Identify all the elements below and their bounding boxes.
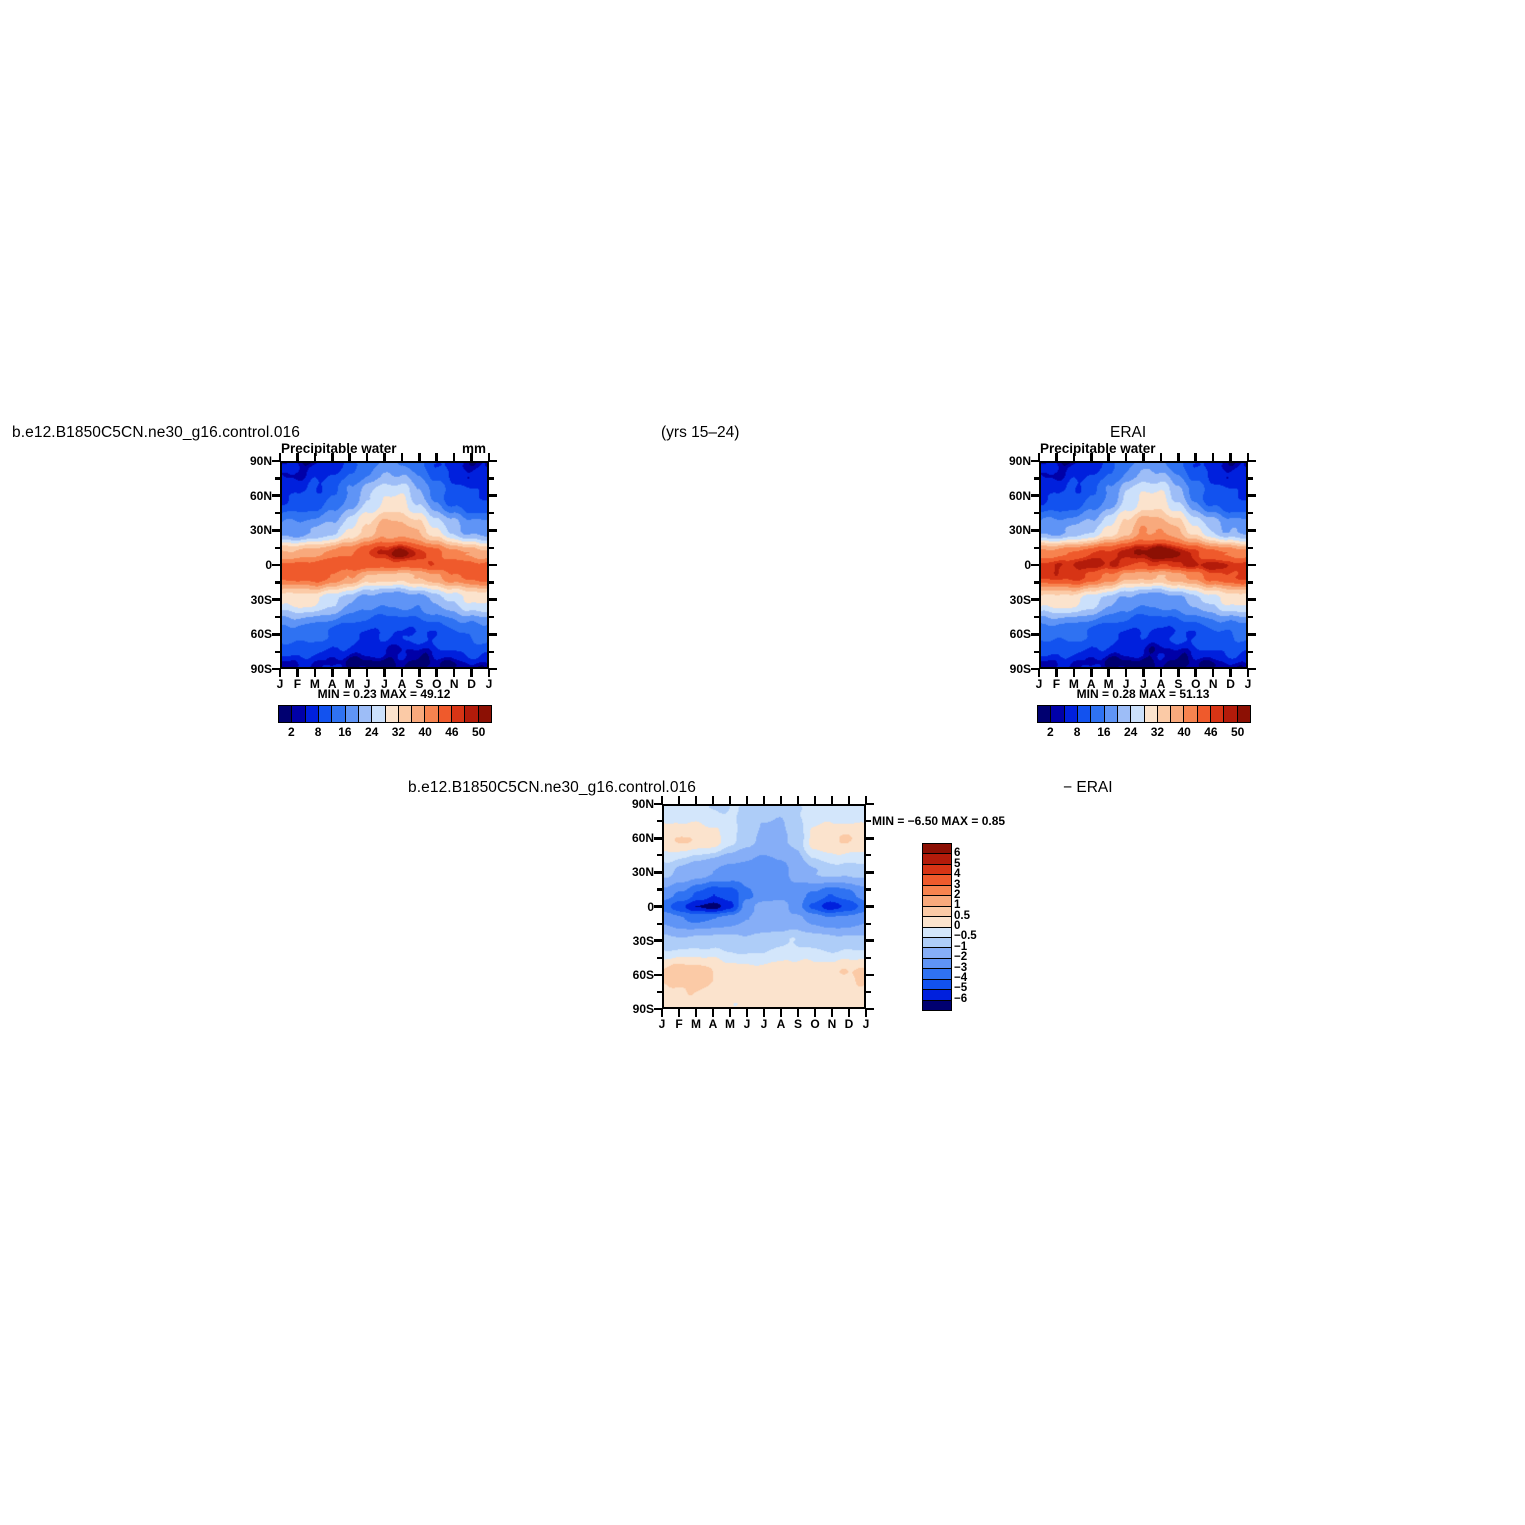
colorbar-swatch <box>332 706 345 722</box>
diff-y-label: 0 <box>614 900 654 914</box>
obs-y-tick <box>1247 564 1256 567</box>
diff-x-label: J <box>659 1017 666 1031</box>
obs-x-tick <box>1142 668 1145 677</box>
model-minmax-label: MIN = 0.23 MAX = 49.12 <box>318 687 451 701</box>
diff-x-label: J <box>863 1017 870 1031</box>
model-heatmap-canvas <box>282 463 487 667</box>
colorbar-swatch <box>399 706 412 722</box>
obs-y-minor-tick <box>1034 581 1040 583</box>
obs-y-minor-tick <box>1247 547 1253 549</box>
obs-x-tick <box>1125 668 1128 677</box>
obs-x-tick <box>1090 668 1093 677</box>
obs-x-tick <box>1229 453 1232 462</box>
colorbar-swatch <box>923 990 951 1000</box>
diff-x-tick <box>678 1008 681 1017</box>
diff-title-left: b.e12.B1850C5CN.ne30_g16.control.016 <box>408 779 696 797</box>
obs-plot-area <box>1039 461 1248 669</box>
colorbar-swatch <box>923 1001 951 1010</box>
colorbar-swatch <box>1211 706 1224 722</box>
diff-x-tick <box>661 796 664 805</box>
obs-y-minor-tick <box>1247 616 1253 618</box>
model-y-minor-tick <box>488 651 494 653</box>
colorbar-swatch <box>1038 706 1051 722</box>
model-x-label: J <box>277 677 284 691</box>
diff-x-tick <box>865 796 868 805</box>
model-x-tick <box>488 668 491 677</box>
model-y-minor-tick <box>275 616 281 618</box>
diff-x-tick <box>763 796 766 805</box>
diff-y-minor-tick <box>657 957 663 959</box>
diff-y-label: 30N <box>614 865 654 879</box>
model-x-tick <box>453 668 456 677</box>
obs-y-minor-tick <box>1034 477 1040 479</box>
diff-title-right: − ERAI <box>1063 779 1113 797</box>
model-x-tick <box>435 668 438 677</box>
model-y-label: 90N <box>232 454 272 468</box>
diff-y-label: 90S <box>614 1002 654 1016</box>
model-x-tick <box>418 453 421 462</box>
model-x-tick <box>331 453 334 462</box>
right-panel-title: ERAI <box>1110 424 1146 442</box>
diff-y-label: 60S <box>614 968 654 982</box>
obs-y-tick <box>1247 633 1256 636</box>
colorbar-swatch <box>292 706 305 722</box>
obs-y-tick <box>1247 598 1256 601</box>
model-y-tick <box>488 494 497 497</box>
model-y-label: 30S <box>232 593 272 607</box>
colorbar-swatch <box>412 706 425 722</box>
obs-y-tick <box>1031 564 1040 567</box>
model-x-tick <box>348 453 351 462</box>
colorbar-swatch <box>923 907 951 917</box>
model-y-tick <box>272 633 281 636</box>
diff-x-tick <box>695 796 698 805</box>
model-y-tick <box>488 564 497 567</box>
obs-x-tick <box>1055 453 1058 462</box>
model-x-tick <box>279 668 282 677</box>
colorbar-swatch <box>1131 706 1144 722</box>
obs-minmax-label: MIN = 0.28 MAX = 51.13 <box>1077 687 1210 701</box>
obs-x-tick <box>1038 668 1041 677</box>
obs-y-minor-tick <box>1247 477 1253 479</box>
diff-y-label: 90N <box>614 797 654 811</box>
diff-x-tick <box>865 1008 868 1017</box>
diff-x-label: S <box>794 1017 802 1031</box>
model-y-minor-tick <box>488 547 494 549</box>
colorbar-swatch <box>479 706 491 722</box>
obs-x-tick <box>1177 668 1180 677</box>
obs-x-tick <box>1212 668 1215 677</box>
diff-y-minor-tick <box>657 991 663 993</box>
model-x-label: D <box>467 677 476 691</box>
obs-colorbar <box>1037 705 1251 723</box>
model-y-label: 60S <box>232 627 272 641</box>
model-y-tick <box>488 529 497 532</box>
colorbar-swatch <box>319 706 332 722</box>
model-y-minor-tick <box>275 477 281 479</box>
diff-y-minor-tick <box>865 888 871 890</box>
model-y-minor-tick <box>275 512 281 514</box>
diff-y-minor-tick <box>865 854 871 856</box>
obs-y-tick <box>1031 598 1040 601</box>
diff-y-label: 60N <box>614 831 654 845</box>
obs-x-tick <box>1038 453 1041 462</box>
colorbar-swatch <box>1198 706 1211 722</box>
diff-x-label: D <box>845 1017 854 1031</box>
obs-y-tick <box>1247 494 1256 497</box>
diff-y-minor-tick <box>657 888 663 890</box>
obs-y-tick <box>1031 494 1040 497</box>
model-x-tick <box>296 668 299 677</box>
diff-x-label: N <box>828 1017 837 1031</box>
obs-x-tick <box>1055 668 1058 677</box>
diff-y-tick <box>865 837 874 840</box>
colorbar-swatch <box>439 706 452 722</box>
colorbar-tick-label: 24 <box>365 725 378 739</box>
obs-x-tick <box>1247 453 1250 462</box>
diff-y-minor-tick <box>865 820 871 822</box>
colorbar-tick-label: 8 <box>1074 725 1081 739</box>
diff-x-tick <box>678 796 681 805</box>
colorbar-swatch <box>1091 706 1104 722</box>
colorbar-swatch <box>923 865 951 875</box>
obs-x-tick <box>1107 668 1110 677</box>
model-x-label: J <box>486 677 493 691</box>
obs-x-tick <box>1160 668 1163 677</box>
diff-y-tick <box>654 939 663 942</box>
model-y-minor-tick <box>275 651 281 653</box>
model-colorbar <box>278 705 492 723</box>
model-y-tick <box>272 494 281 497</box>
colorbar-swatch <box>923 886 951 896</box>
model-x-tick <box>366 453 369 462</box>
diff-y-minor-tick <box>657 820 663 822</box>
diff-x-tick <box>814 796 817 805</box>
model-x-tick <box>331 668 334 677</box>
colorbar-swatch <box>923 854 951 864</box>
model-y-minor-tick <box>275 547 281 549</box>
obs-x-tick <box>1073 453 1076 462</box>
model-x-tick <box>435 453 438 462</box>
colorbar-swatch <box>1171 706 1184 722</box>
diff-x-label: M <box>691 1017 701 1031</box>
model-x-tick <box>470 668 473 677</box>
center-years-title: (yrs 15–24) <box>661 424 739 442</box>
colorbar-swatch <box>1184 706 1197 722</box>
model-y-minor-tick <box>275 581 281 583</box>
diff-y-minor-tick <box>865 991 871 993</box>
colorbar-swatch <box>1158 706 1171 722</box>
colorbar-swatch <box>1065 706 1078 722</box>
obs-x-label: J <box>1036 677 1043 691</box>
colorbar-tick-label: 46 <box>445 725 458 739</box>
model-colorbar-labels: 28162432404650 <box>278 725 490 741</box>
colorbar-swatch <box>359 706 372 722</box>
obs-y-label: 0 <box>991 558 1031 572</box>
obs-x-tick <box>1247 668 1250 677</box>
diff-plot-area <box>662 804 866 1009</box>
diff-x-tick <box>831 796 834 805</box>
colorbar-swatch <box>386 706 399 722</box>
model-y-tick <box>488 598 497 601</box>
diff-x-tick <box>780 796 783 805</box>
obs-x-tick <box>1142 453 1145 462</box>
model-x-tick <box>401 668 404 677</box>
diff-y-tick <box>654 974 663 977</box>
diff-x-tick <box>729 1008 732 1017</box>
obs-y-label: 90S <box>991 662 1031 676</box>
colorbar-tick-label: 2 <box>288 725 295 739</box>
colorbar-swatch <box>923 969 951 979</box>
diff-colorbar-labels: 6543210.50−0.5−1−2−3−4−5−6 <box>954 843 1000 1009</box>
obs-x-tick <box>1212 453 1215 462</box>
colorbar-swatch <box>923 928 951 938</box>
diff-colorbar <box>922 843 952 1011</box>
colorbar-tick-label: 8 <box>315 725 322 739</box>
diff-y-tick <box>654 905 663 908</box>
model-x-tick <box>401 453 404 462</box>
diff-x-tick <box>797 1008 800 1017</box>
colorbar-tick-label: 50 <box>472 725 485 739</box>
colorbar-tick-label: 2 <box>1047 725 1054 739</box>
diff-x-tick <box>746 796 749 805</box>
model-y-tick <box>488 633 497 636</box>
diff-x-tick <box>848 796 851 805</box>
model-x-tick <box>470 453 473 462</box>
diff-x-label: J <box>761 1017 768 1031</box>
obs-y-minor-tick <box>1034 616 1040 618</box>
obs-x-tick <box>1125 453 1128 462</box>
diff-x-label: F <box>675 1017 682 1031</box>
model-y-label: 90S <box>232 662 272 676</box>
colorbar-swatch <box>1105 706 1118 722</box>
model-x-tick <box>314 668 317 677</box>
model-units-label: mm <box>462 441 486 456</box>
model-x-label: F <box>294 677 301 691</box>
colorbar-swatch <box>923 938 951 948</box>
obs-y-minor-tick <box>1247 651 1253 653</box>
colorbar-swatch <box>1224 706 1237 722</box>
model-y-minor-tick <box>488 477 494 479</box>
diff-x-tick <box>712 1008 715 1017</box>
obs-x-tick <box>1073 668 1076 677</box>
diff-y-minor-tick <box>865 923 871 925</box>
obs-x-label: N <box>1209 677 1218 691</box>
diff-x-tick <box>848 1008 851 1017</box>
model-x-tick <box>314 453 317 462</box>
model-x-tick <box>348 668 351 677</box>
obs-x-tick <box>1194 453 1197 462</box>
colorbar-tick-label: 46 <box>1204 725 1217 739</box>
model-x-tick <box>279 453 282 462</box>
model-y-label: 60N <box>232 489 272 503</box>
model-plot-area <box>280 461 489 669</box>
obs-y-minor-tick <box>1034 547 1040 549</box>
diff-x-tick <box>729 796 732 805</box>
diff-y-tick <box>865 905 874 908</box>
obs-x-tick <box>1194 668 1197 677</box>
obs-y-minor-tick <box>1034 512 1040 514</box>
obs-x-label: J <box>1245 677 1252 691</box>
obs-y-label: 60N <box>991 489 1031 503</box>
diff-y-tick <box>865 939 874 942</box>
obs-x-tick <box>1090 453 1093 462</box>
colorbar-swatch <box>923 980 951 990</box>
diff-x-label: A <box>709 1017 718 1031</box>
obs-y-tick <box>1031 529 1040 532</box>
colorbar-swatch <box>1118 706 1131 722</box>
colorbar-tick-label: 40 <box>418 725 431 739</box>
diff-y-tick <box>865 974 874 977</box>
diff-y-tick <box>865 871 874 874</box>
diff-x-tick <box>763 1008 766 1017</box>
colorbar-swatch <box>923 959 951 969</box>
diff-x-tick <box>814 1008 817 1017</box>
diff-x-tick <box>797 796 800 805</box>
diff-x-tick <box>712 796 715 805</box>
diff-x-label: A <box>777 1017 786 1031</box>
model-x-tick <box>366 668 369 677</box>
colorbar-swatch <box>1238 706 1250 722</box>
colorbar-swatch <box>306 706 319 722</box>
obs-colorbar-labels: 28162432404650 <box>1037 725 1249 741</box>
obs-y-minor-tick <box>1034 651 1040 653</box>
colorbar-swatch <box>465 706 478 722</box>
colorbar-swatch <box>923 896 951 906</box>
diff-minmax-label: MIN = −6.50 MAX = 0.85 <box>872 814 1005 828</box>
obs-y-label: 30S <box>991 593 1031 607</box>
colorbar-swatch <box>923 948 951 958</box>
colorbar-swatch <box>372 706 385 722</box>
model-y-minor-tick <box>488 616 494 618</box>
model-x-label: N <box>450 677 459 691</box>
obs-x-label: F <box>1053 677 1060 691</box>
diff-x-tick <box>661 1008 664 1017</box>
colorbar-swatch <box>1145 706 1158 722</box>
diff-y-tick <box>654 871 663 874</box>
colorbar-swatch <box>452 706 465 722</box>
colorbar-swatch <box>1078 706 1091 722</box>
model-x-tick <box>383 453 386 462</box>
model-y-tick <box>272 564 281 567</box>
model-x-tick <box>488 453 491 462</box>
obs-y-tick <box>1031 633 1040 636</box>
model-y-minor-tick <box>488 512 494 514</box>
colorbar-tick-label: 40 <box>1177 725 1190 739</box>
diff-x-tick <box>831 1008 834 1017</box>
diff-heatmap-canvas <box>664 806 864 1007</box>
diff-y-minor-tick <box>865 957 871 959</box>
obs-y-minor-tick <box>1247 581 1253 583</box>
colorbar-tick-label: −6 <box>954 993 967 1005</box>
colorbar-tick-label: 16 <box>1097 725 1110 739</box>
obs-y-label: 60S <box>991 627 1031 641</box>
obs-y-label: 30N <box>991 523 1031 537</box>
model-y-label: 0 <box>232 558 272 572</box>
colorbar-tick-label: 32 <box>1151 725 1164 739</box>
diff-x-tick <box>746 1008 749 1017</box>
model-y-tick <box>272 598 281 601</box>
obs-x-tick <box>1229 668 1232 677</box>
obs-y-label: 90N <box>991 454 1031 468</box>
colorbar-tick-label: 16 <box>338 725 351 739</box>
model-x-tick <box>418 668 421 677</box>
obs-x-label: D <box>1226 677 1235 691</box>
diff-y-tick <box>654 837 663 840</box>
colorbar-swatch <box>923 875 951 885</box>
colorbar-swatch <box>425 706 438 722</box>
diff-x-label: M <box>725 1017 735 1031</box>
colorbar-tick-label: 50 <box>1231 725 1244 739</box>
obs-x-tick <box>1160 453 1163 462</box>
colorbar-swatch <box>279 706 292 722</box>
diff-y-label: 30S <box>614 934 654 948</box>
diff-y-minor-tick <box>657 854 663 856</box>
model-x-tick <box>383 668 386 677</box>
obs-x-tick <box>1107 453 1110 462</box>
colorbar-swatch <box>346 706 359 722</box>
diff-x-label: O <box>810 1017 819 1031</box>
model-y-tick <box>272 529 281 532</box>
diff-x-tick <box>780 1008 783 1017</box>
left-panel-title: b.e12.B1850C5CN.ne30_g16.control.016 <box>12 424 300 442</box>
colorbar-swatch <box>923 917 951 927</box>
model-x-tick <box>453 453 456 462</box>
obs-y-minor-tick <box>1247 512 1253 514</box>
model-x-tick <box>296 453 299 462</box>
model-y-label: 30N <box>232 523 272 537</box>
diff-x-label: J <box>744 1017 751 1031</box>
figure-root: b.e12.B1850C5CN.ne30_g16.control.016 (yr… <box>0 0 1525 1525</box>
diff-x-tick <box>695 1008 698 1017</box>
obs-heatmap-canvas <box>1041 463 1246 667</box>
colorbar-tick-label: 32 <box>392 725 405 739</box>
obs-y-tick <box>1247 529 1256 532</box>
colorbar-tick-label: 24 <box>1124 725 1137 739</box>
obs-x-tick <box>1177 453 1180 462</box>
model-y-minor-tick <box>488 581 494 583</box>
diff-y-minor-tick <box>657 923 663 925</box>
colorbar-swatch <box>923 844 951 854</box>
colorbar-swatch <box>1051 706 1064 722</box>
